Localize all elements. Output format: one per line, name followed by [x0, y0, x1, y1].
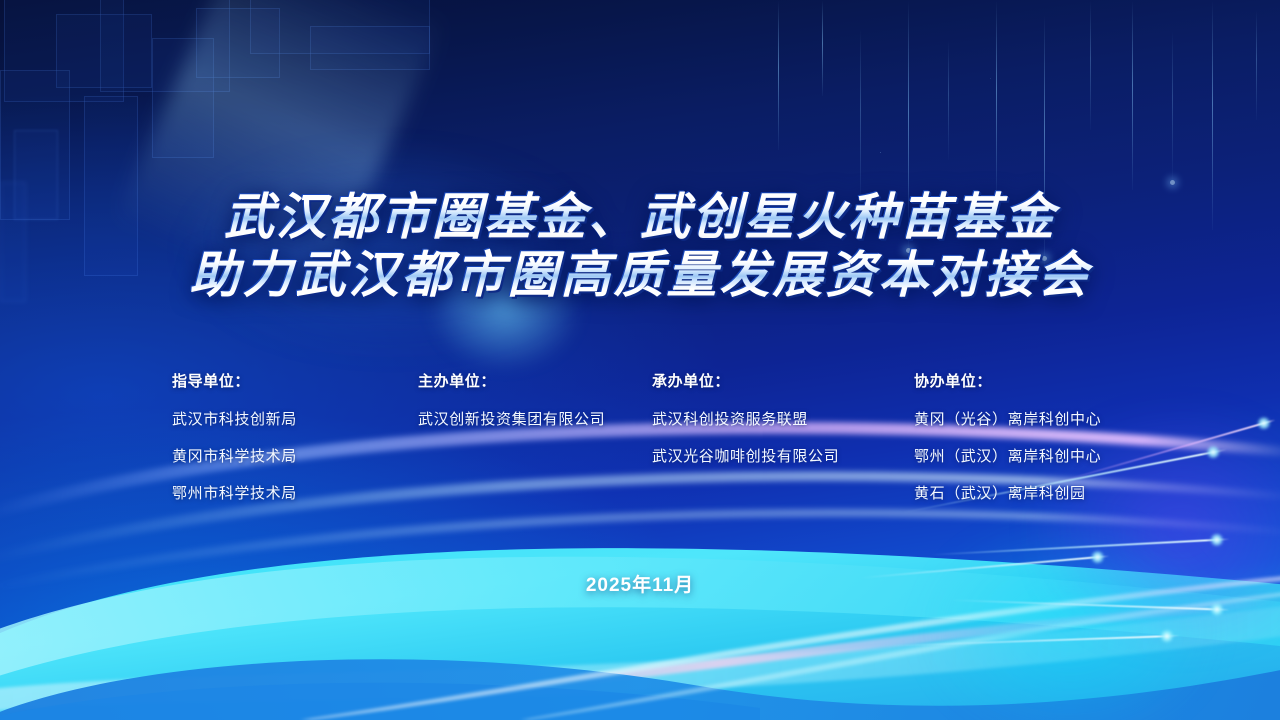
org-role-label: 承办单位： [652, 370, 914, 391]
organizations-row: 指导单位： 武汉市科技创新局 黄冈市科学技术局 鄂州市科学技术局 主办单位： 武… [0, 370, 1280, 503]
org-unit: 武汉科创投资服务联盟 [652, 408, 914, 429]
org-unit: 武汉创新投资集团有限公司 [418, 408, 652, 429]
org-unit: 黄冈市科学技术局 [172, 445, 418, 466]
org-unit: 武汉光谷咖啡创投有限公司 [652, 445, 914, 466]
org-column-organizer: 承办单位： 武汉科创投资服务联盟 武汉光谷咖啡创投有限公司 [652, 370, 914, 503]
org-unit: 鄂州（武汉）离岸科创中心 [914, 445, 1101, 466]
org-role-label: 指导单位： [172, 370, 418, 391]
main-title: 武汉都市圈基金、武创星火种苗基金 助力武汉都市圈高质量发展资本对接会 [0, 188, 1280, 304]
poster-content: 武汉都市圈基金、武创星火种苗基金 助力武汉都市圈高质量发展资本对接会 指导单位：… [0, 0, 1280, 720]
org-column-co-organizer: 协办单位： 黄冈（光谷）离岸科创中心 鄂州（武汉）离岸科创中心 黄石（武汉）离岸… [914, 370, 1101, 503]
org-unit: 武汉市科技创新局 [172, 408, 418, 429]
title-line-1: 武汉都市圈基金、武创星火种苗基金 [0, 188, 1280, 246]
title-line-2: 助力武汉都市圈高质量发展资本对接会 [0, 246, 1280, 304]
org-column-host: 主办单位： 武汉创新投资集团有限公司 [418, 370, 652, 503]
org-unit: 黄冈（光谷）离岸科创中心 [914, 408, 1101, 429]
org-column-guidance: 指导单位： 武汉市科技创新局 黄冈市科学技术局 鄂州市科学技术局 [172, 370, 418, 503]
org-role-label: 协办单位： [914, 370, 1101, 391]
poster-canvas: 武汉都市圈基金、武创星火种苗基金 助力武汉都市圈高质量发展资本对接会 指导单位：… [0, 0, 1280, 720]
org-unit: 鄂州市科学技术局 [172, 482, 418, 503]
event-date: 2025年11月 [0, 570, 1280, 597]
org-unit: 黄石（武汉）离岸科创园 [914, 482, 1101, 503]
org-role-label: 主办单位： [418, 370, 652, 391]
